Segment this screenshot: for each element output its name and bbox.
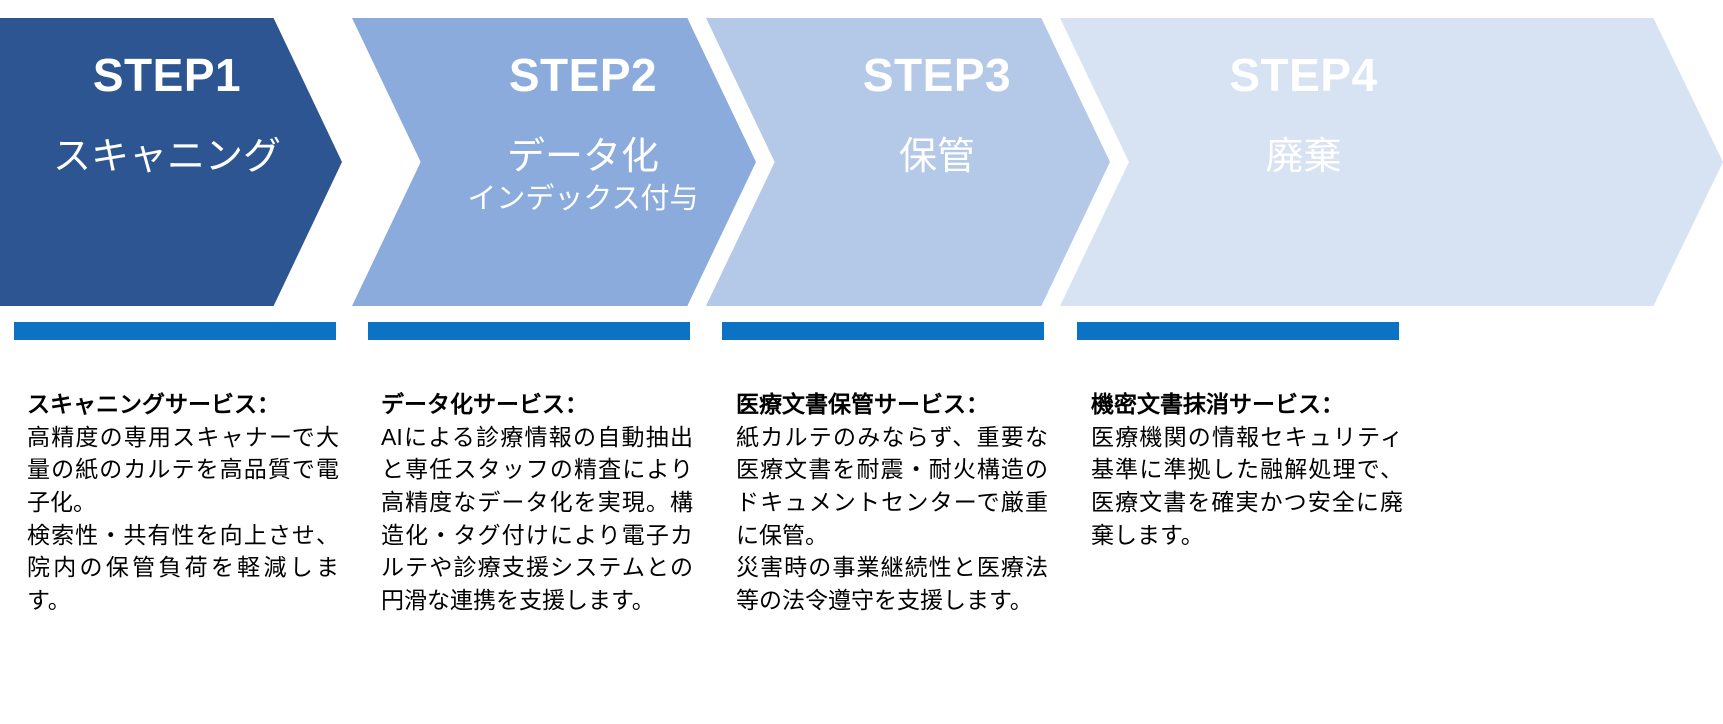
- step-name-4: 廃棄: [1265, 136, 1341, 179]
- arrow-band: STEP1 スキャニング STEP2 データ化 インデックス付与 STEP3 保…: [0, 0, 1723, 310]
- description-body-2: AIによる診療情報の自動抽出と専任スタッフの精査により高精度なデータ化を実現。構…: [381, 421, 693, 617]
- description-column-4: 機密文書抹消サービス： 医療機関の情報セキュリティ基準に準拠した融解処理で、医療…: [1091, 388, 1403, 551]
- step-label-4: STEP4: [1229, 52, 1377, 98]
- step-arrow-4: STEP4 廃棄: [1060, 18, 1723, 306]
- step-label-3: STEP3: [863, 52, 1011, 98]
- description-body-1: 高精度の専用スキャナーで大量の紙のカルテを高品質で電子化。 検索性・共有性を向上…: [27, 421, 339, 617]
- description-column-1: スキャニングサービス： 高精度の専用スキャナーで大量の紙のカルテを高品質で電子化…: [27, 388, 339, 617]
- description-body-3: 紙カルテのみならず、重要な医療文書を耐震・耐火構造のドキュメントセンターで厳重に…: [736, 421, 1048, 617]
- step-name-2: データ化: [507, 136, 659, 179]
- step-arrow-2: STEP2 データ化 インデックス付与: [352, 18, 756, 306]
- process-flow-diagram: STEP1 スキャニング STEP2 データ化 インデックス付与 STEP3 保…: [0, 0, 1723, 724]
- step-label-2: STEP2: [509, 52, 657, 98]
- description-title-1: スキャニングサービス：: [27, 388, 339, 421]
- description-title-4: 機密文書抹消サービス：: [1091, 388, 1403, 421]
- description-body-4: 医療機関の情報セキュリティ基準に準拠した融解処理で、医療文書を確実かつ安全に廃棄…: [1091, 421, 1403, 552]
- divider-bar-1: [14, 322, 336, 340]
- description-column-3: 医療文書保管サービス： 紙カルテのみならず、重要な医療文書を耐震・耐火構造のドキ…: [736, 388, 1048, 617]
- step-arrow-3: STEP3 保管: [706, 18, 1110, 306]
- step-name-3: 保管: [899, 136, 975, 179]
- divider-bar-3: [722, 322, 1044, 340]
- description-column-2: データ化サービス： AIによる診療情報の自動抽出と専任スタッフの精査により高精度…: [381, 388, 693, 617]
- step-name-1: スキャニング: [53, 136, 281, 179]
- divider-bar-2: [368, 322, 690, 340]
- step-label-1: STEP1: [93, 52, 241, 98]
- step-subname-2: インデックス付与: [467, 183, 698, 216]
- description-title-2: データ化サービス：: [381, 388, 693, 421]
- divider-bar-4: [1077, 322, 1399, 340]
- description-title-3: 医療文書保管サービス：: [736, 388, 1048, 421]
- step-arrow-1: STEP1 スキャニング: [0, 18, 342, 306]
